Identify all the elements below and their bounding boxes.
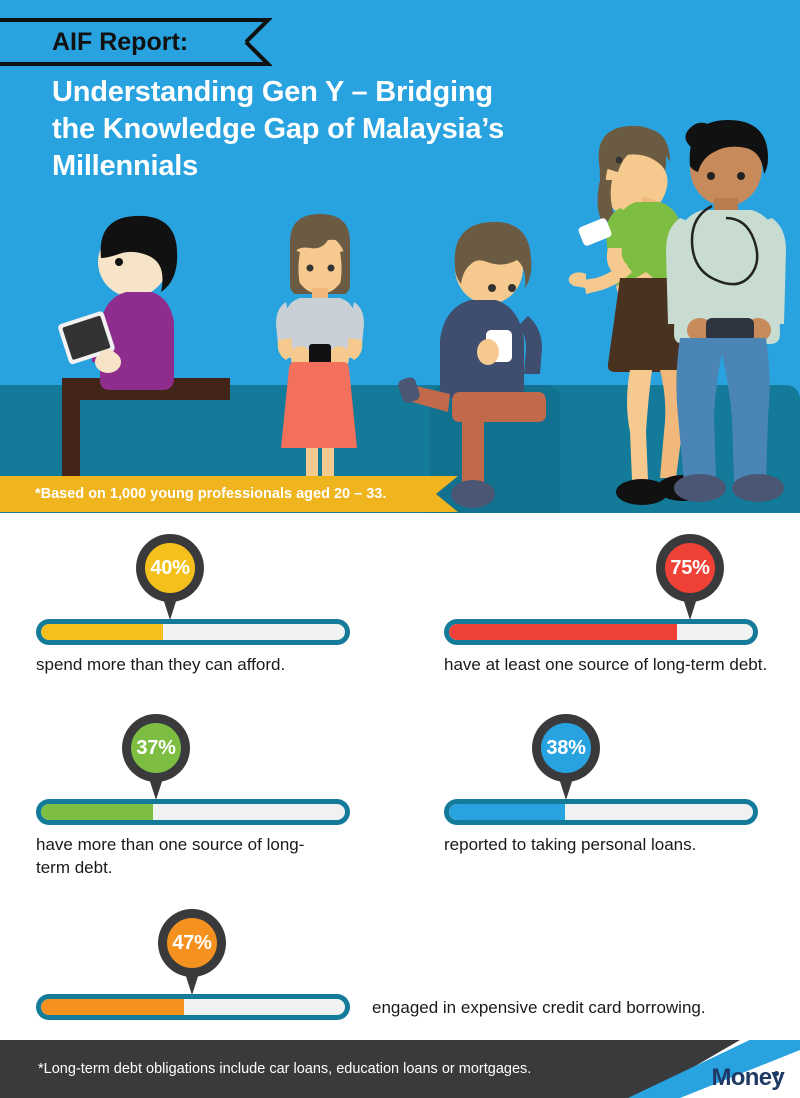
statistics-section: 40% spend more than they can afford. 75%: [0, 513, 800, 1020]
progress-bar-track: [449, 804, 753, 820]
stat-caption: reported to taking personal loans.: [444, 833, 800, 856]
progress-bar-track: [41, 999, 345, 1015]
footer-bar: *Long-term debt obligations include car …: [0, 1040, 800, 1098]
progress-bar-fill: [41, 999, 184, 1015]
person-standing-phone-icon: [276, 214, 364, 498]
imoney-logo: iMoney: [706, 1066, 784, 1090]
progress-bar: [444, 619, 758, 645]
hero-footnote-ribbon: *Based on 1,000 young professionals aged…: [0, 476, 458, 512]
progress-bar-fill: [41, 804, 153, 820]
hero-section: AIF Report: Understanding Gen Y – Bridgi…: [0, 0, 800, 513]
infographic-page: AIF Report: Understanding Gen Y – Bridgi…: [0, 0, 800, 1098]
person-seated-tablet-icon: [57, 216, 230, 488]
progress-bar: [36, 619, 350, 645]
stat-caption: engaged in expensive credit card borrowi…: [372, 996, 800, 1019]
logo-money-text: Money: [711, 1064, 784, 1091]
stat-caption: have at least one source of long-term de…: [444, 653, 800, 676]
progress-bar: [444, 799, 758, 825]
stat-pin-marker: 37%: [122, 714, 190, 782]
person-seated-phone-icon: [397, 222, 546, 508]
footer-note-label: *Long-term debt obligations include car …: [38, 1040, 531, 1098]
pin-value-label: 38%: [541, 723, 591, 773]
progress-bar-track: [41, 804, 345, 820]
pin-value-label: 47%: [167, 918, 217, 968]
stat-caption: spend more than they can afford.: [36, 653, 366, 676]
progress-bar-track: [41, 624, 345, 640]
progress-bar-fill: [41, 624, 163, 640]
hero-footnote-label: *Based on 1,000 young professionals aged…: [35, 476, 386, 512]
pin-value-label: 75%: [665, 543, 715, 593]
stat-pin-marker: 75%: [656, 534, 724, 602]
pin-value-label: 40%: [145, 543, 195, 593]
progress-bar-track: [449, 624, 753, 640]
progress-bar: [36, 799, 350, 825]
progress-bar-fill: [449, 624, 677, 640]
logo-accent-dot-icon: [774, 1071, 779, 1076]
stat-pin-marker: 40%: [136, 534, 204, 602]
pin-value-label: 37%: [131, 723, 181, 773]
person-standing-earphones-icon: [666, 120, 786, 502]
stat-pin-marker: 38%: [532, 714, 600, 782]
progress-bar-fill: [449, 804, 565, 820]
progress-bar: [36, 994, 350, 1020]
stat-pin-marker: 47%: [158, 909, 226, 977]
stat-caption: have more than one source of long-term d…: [36, 833, 336, 879]
millennials-illustration: [0, 0, 800, 513]
